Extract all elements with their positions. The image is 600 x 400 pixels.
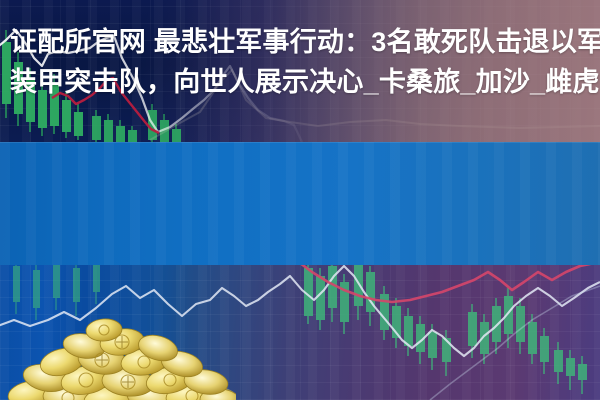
bottom-faint-rising-line	[430, 286, 600, 400]
bottom-chart-svg	[0, 264, 600, 400]
headline-band-stripes	[0, 142, 600, 265]
bottom-chart-panel	[0, 264, 600, 400]
headline-band	[0, 142, 600, 265]
headline-line-2: 装甲突击队，向世人展示决心_卡桑旅_加沙_雌虎	[10, 62, 600, 102]
bottom-candle-group	[304, 264, 587, 394]
headline-line-1: 证配所官网 最悲壮军事行动：3名敢死队击退以军	[10, 22, 600, 62]
bottom-white-trendline	[0, 266, 600, 356]
thumbnail-image: 证配所官网 最悲壮军事行动：3名敢死队击退以军 装甲突击队，向世人展示决心_卡桑…	[0, 0, 600, 400]
headline-text-block: 证配所官网 最悲壮军事行动：3名敢死队击退以军 装甲突击队，向世人展示决心_卡桑…	[0, 0, 600, 123]
bottom-left-candle-group	[13, 264, 100, 320]
